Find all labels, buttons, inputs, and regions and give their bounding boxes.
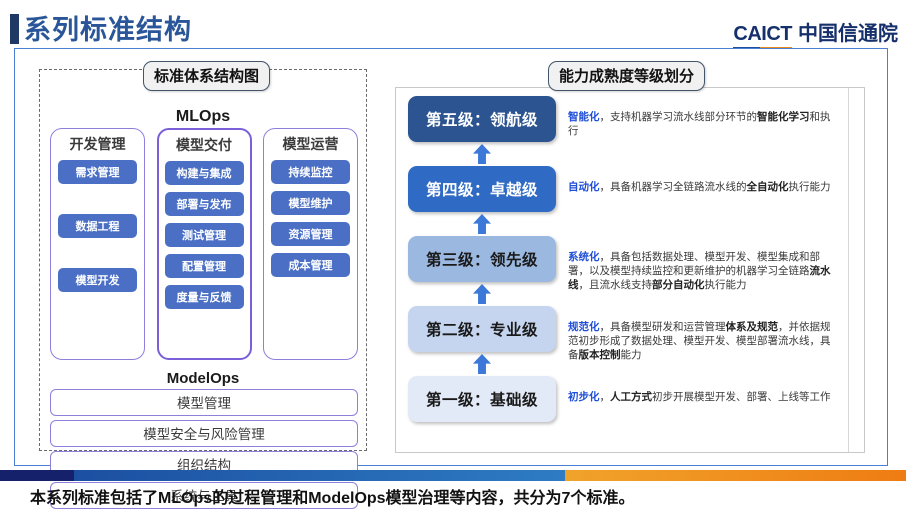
logo-name-text: 中国信通院	[798, 17, 898, 46]
modelops-row[interactable]: 模型安全与风险管理	[50, 420, 358, 447]
level-arrow-1-to-2	[408, 352, 556, 376]
footer-bar-blue	[74, 470, 570, 481]
maturity-level-panel: 第五级：领航级 第四级：卓越级 第三级：领先级 第二级：专业级 第一级：基础级 …	[395, 87, 865, 453]
level-box-5[interactable]: 第五级：领航级	[408, 96, 556, 142]
level-box-2[interactable]: 第二级：专业级	[408, 306, 556, 352]
chip-item[interactable]: 成本管理	[271, 253, 350, 277]
mlops-columns: 开发管理 需求管理 数据工程 模型开发 模型交付 构建与集成 部署与发布 测试管…	[50, 128, 358, 360]
footer-decoration-bar	[0, 470, 906, 481]
column-title: 开发管理	[56, 134, 139, 154]
arrow-up-icon	[473, 214, 491, 234]
modelops-title: ModelOps	[40, 370, 366, 387]
chip-item[interactable]: 资源管理	[271, 222, 350, 246]
arrow-up-icon	[473, 144, 491, 164]
level-description-3: 系统化，具备包括数据处理、模型开发、模型集成和部署，以及模型持续监控和更新维护的…	[568, 244, 846, 299]
level-description-5: 智能化，支持机器学习流水线部分环节的智能化学习和执行	[568, 104, 846, 144]
chip-item[interactable]: 测试管理	[165, 223, 244, 247]
left-panel-badge: 标准体系结构图	[143, 61, 270, 91]
column-title: 模型运营	[269, 134, 352, 154]
arrow-up-icon	[473, 284, 491, 304]
content-frame: 标准体系结构图 MLOps 开发管理 需求管理 数据工程 模型开发 模型交付 构…	[14, 48, 888, 466]
level-arrow-3-to-4	[408, 212, 556, 236]
chip-item[interactable]: 构建与集成	[165, 161, 244, 185]
mlops-column-dev: 开发管理 需求管理 数据工程 模型开发	[50, 128, 145, 360]
page-title: 系列标准结构	[24, 8, 192, 47]
level-arrow-4-to-5	[408, 142, 556, 166]
level-description-2: 规范化，具备模型研发和运营管理体系及规范，并依据规范初步形成了数据处理、模型开发…	[568, 314, 846, 369]
level-box-3[interactable]: 第三级：领先级	[408, 236, 556, 282]
chip-item[interactable]: 配置管理	[165, 254, 244, 278]
chip-item[interactable]: 模型开发	[58, 268, 137, 292]
level-box-4[interactable]: 第四级：卓越级	[408, 166, 556, 212]
logo-mark-text: CAICT	[733, 23, 792, 49]
mlops-column-delivery: 模型交付 构建与集成 部署与发布 测试管理 配置管理 度量与反馈	[157, 128, 252, 360]
standards-structure-diagram: MLOps 开发管理 需求管理 数据工程 模型开发 模型交付 构建与集成 部署与…	[39, 69, 367, 451]
level-description-4: 自动化，具备机器学习全链路流水线的全自动化执行能力	[568, 174, 846, 200]
title-accent-bar	[10, 14, 19, 44]
level-arrow-2-to-3	[408, 282, 556, 306]
chip-item[interactable]: 度量与反馈	[165, 285, 244, 309]
chip-item[interactable]: 部署与发布	[165, 192, 244, 216]
chip-item[interactable]: 持续监控	[271, 160, 350, 184]
level-box-1[interactable]: 第一级：基础级	[408, 376, 556, 422]
slide-header: 系列标准结构 CAICT 中国信通院	[0, 0, 906, 50]
mlops-title: MLOps	[40, 108, 366, 126]
footer-bar-navy	[0, 470, 74, 481]
panel-divider	[848, 88, 849, 452]
chip-item[interactable]: 模型维护	[271, 191, 350, 215]
chip-item[interactable]: 需求管理	[58, 160, 137, 184]
mlops-column-operations: 模型运营 持续监控 模型维护 资源管理 成本管理	[263, 128, 358, 360]
right-panel-badge: 能力成熟度等级划分	[548, 61, 705, 91]
level-description-1: 初步化，人工方式初步开展模型开发、部署、上线等工作	[568, 384, 846, 410]
footer-bar-orange	[565, 470, 906, 481]
chip-item[interactable]: 数据工程	[58, 214, 137, 238]
footer-caption: 本系列标准包括了MLOps的过程管理和ModelOps模型治理等内容，共分为7个…	[30, 484, 634, 508]
caict-logo: CAICT 中国信通院	[733, 17, 898, 49]
arrow-up-icon	[473, 354, 491, 374]
maturity-level-boxes: 第五级：领航级 第四级：卓越级 第三级：领先级 第二级：专业级 第一级：基础级	[408, 96, 556, 422]
column-title: 模型交付	[164, 135, 245, 155]
modelops-row[interactable]: 模型管理	[50, 389, 358, 416]
